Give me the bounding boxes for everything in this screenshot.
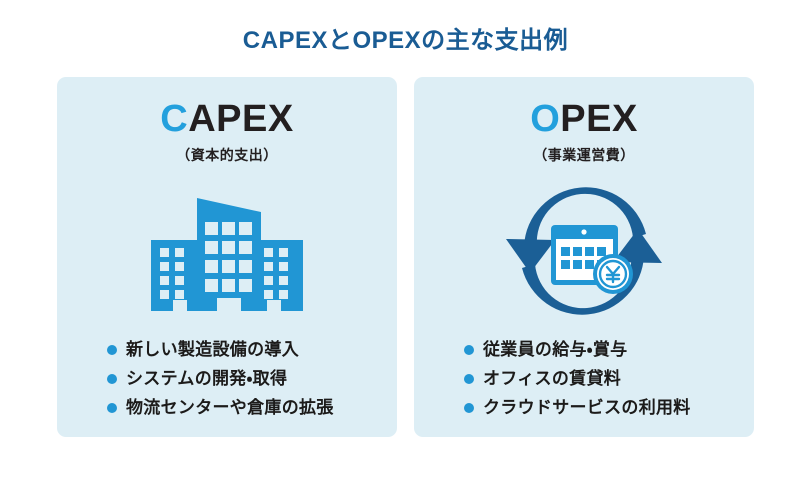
icon-wrap-capex bbox=[57, 181, 397, 321]
card-row: CAPEX （資本的支出） bbox=[57, 77, 754, 437]
yen-coin-icon bbox=[593, 254, 633, 294]
card-opex: OPEX （事業運営費） bbox=[414, 77, 754, 437]
bullet-dot-icon bbox=[464, 345, 474, 355]
list-item-label: クラウドサービスの利用料 bbox=[483, 397, 691, 420]
bullet-dot-icon bbox=[107, 374, 117, 384]
card-heading-opex: OPEX bbox=[414, 99, 754, 141]
card-heading-capex: CAPEX bbox=[57, 99, 397, 141]
bullet-list-capex: 新しい製造設備の導入 システムの開発・取得 物流センターや倉庫の拡張 bbox=[107, 339, 334, 426]
list-item-label: オフィスの賃貸料 bbox=[483, 368, 621, 391]
infographic-page: CAPEXとOPEXの主な支出例 CAPEX （資本的支出） bbox=[0, 0, 811, 485]
recurring-calendar-yen-icon bbox=[494, 185, 674, 317]
bullet-dot-icon bbox=[107, 403, 117, 413]
list-item-label: システムの開発・取得 bbox=[126, 368, 287, 391]
bullet-list-opex: 従業員の給与・賞与 オフィスの賃貸料 クラウドサービスの利用料 bbox=[464, 339, 691, 426]
list-item: システムの開発・取得 bbox=[107, 368, 334, 391]
list-item-label: 物流センターや倉庫の拡張 bbox=[126, 397, 334, 420]
card-heading-accent-letter: C bbox=[160, 98, 188, 140]
buildings-icon bbox=[137, 186, 317, 316]
card-capex: CAPEX （資本的支出） bbox=[57, 77, 397, 437]
list-item: 従業員の給与・賞与 bbox=[464, 339, 691, 362]
list-item: クラウドサービスの利用料 bbox=[464, 397, 691, 420]
card-subheading-capex: （資本的支出） bbox=[57, 145, 397, 165]
list-item-label: 新しい製造設備の導入 bbox=[126, 339, 299, 362]
card-heading-rest: APEX bbox=[188, 98, 293, 140]
bullet-dot-icon bbox=[464, 403, 474, 413]
list-item-label: 従業員の給与・賞与 bbox=[483, 339, 627, 362]
page-title: CAPEXとOPEXの主な支出例 bbox=[0, 27, 811, 56]
list-item: オフィスの賃貸料 bbox=[464, 368, 691, 391]
icon-wrap-opex bbox=[414, 181, 754, 321]
bullet-dot-icon bbox=[464, 374, 474, 384]
card-heading-accent-letter: O bbox=[530, 98, 560, 140]
list-item: 新しい製造設備の導入 bbox=[107, 339, 334, 362]
card-subheading-opex: （事業運営費） bbox=[414, 145, 754, 165]
bullet-dot-icon bbox=[107, 345, 117, 355]
card-heading-rest: PEX bbox=[560, 98, 638, 140]
list-item: 物流センターや倉庫の拡張 bbox=[107, 397, 334, 420]
